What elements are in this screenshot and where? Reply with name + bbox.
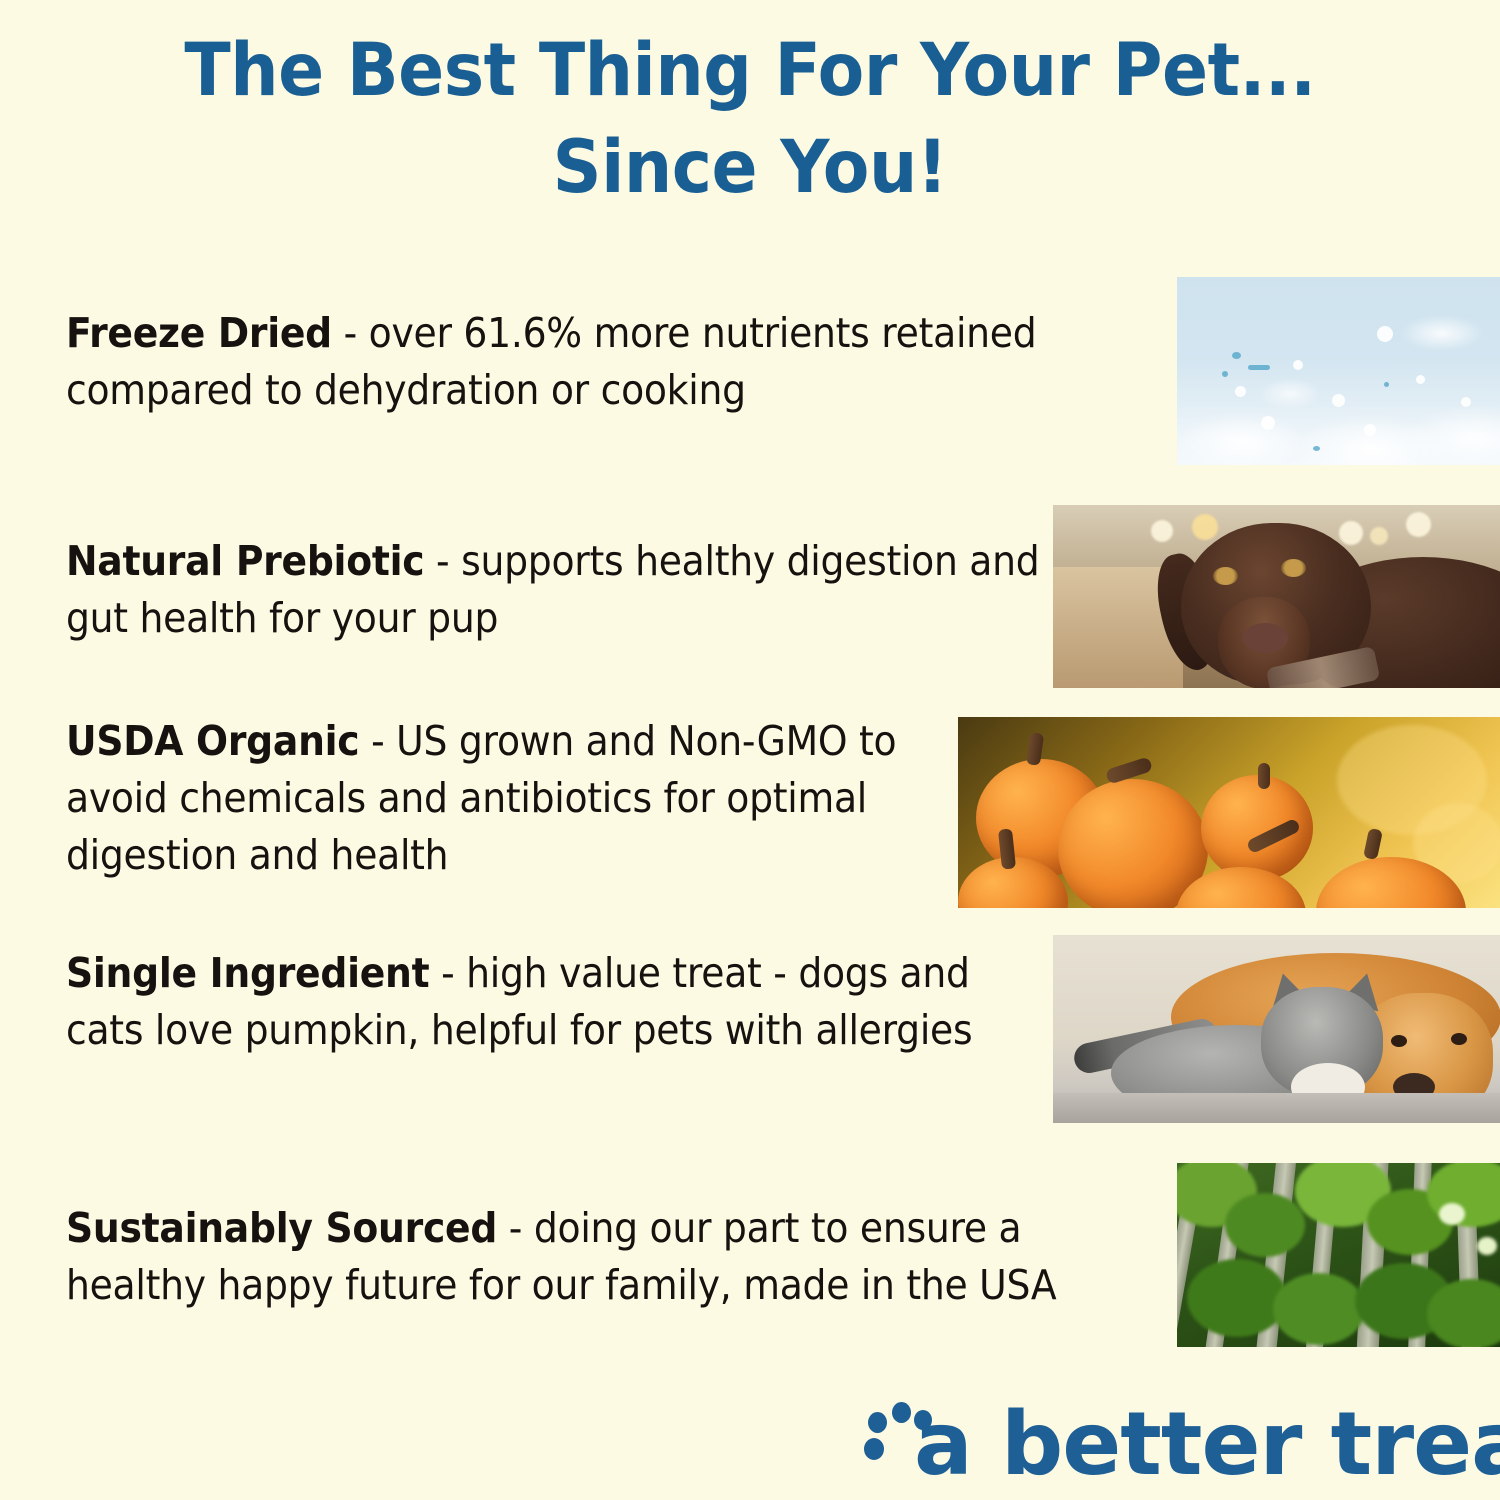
- feature-separator: -: [359, 717, 396, 765]
- feature-item-sustainably-sourced: Sustainably Sourced - doing our part to …: [66, 1200, 1170, 1314]
- cat-and-dog-photo: [1053, 935, 1500, 1123]
- brand-logo: a better treat: [862, 1404, 1482, 1500]
- pumpkins-photo: [958, 717, 1500, 908]
- forest-trees-photo: [1177, 1163, 1500, 1347]
- feature-heading: Sustainably Sourced: [66, 1204, 497, 1252]
- feature-item-natural-prebiotic: Natural Prebiotic - supports healthy dig…: [66, 533, 1041, 647]
- feature-heading: USDA Organic: [66, 717, 359, 765]
- feature-item-freeze-dried: Freeze Dried - over 61.6% more nutrients…: [66, 305, 1096, 419]
- page-title-line-1: The Best Thing For Your Pet...: [53, 22, 1448, 119]
- feature-item-usda-organic: USDA Organic - US grown and Non-GMO to a…: [66, 713, 995, 884]
- ice-crystals-photo: [1177, 277, 1500, 465]
- brand-wordmark: a better treat: [914, 1394, 1500, 1494]
- chocolate-labrador-photo: [1053, 505, 1500, 688]
- feature-heading: Natural Prebiotic: [66, 537, 424, 585]
- feature-separator: -: [497, 1204, 534, 1252]
- page-title-line-2: Since You!: [53, 119, 1448, 216]
- feature-heading: Freeze Dried: [66, 309, 332, 357]
- feature-item-single-ingredient: Single Ingredient - high value treat - d…: [66, 945, 1041, 1059]
- product-feature-infographic: { "page": { "background_color": "#fdfae4…: [0, 0, 1500, 1500]
- feature-separator: -: [424, 537, 461, 585]
- page-title: The Best Thing For Your Pet... Since You…: [0, 22, 1500, 216]
- feature-heading: Single Ingredient: [66, 949, 429, 997]
- feature-separator: -: [332, 309, 369, 357]
- feature-separator: -: [429, 949, 466, 997]
